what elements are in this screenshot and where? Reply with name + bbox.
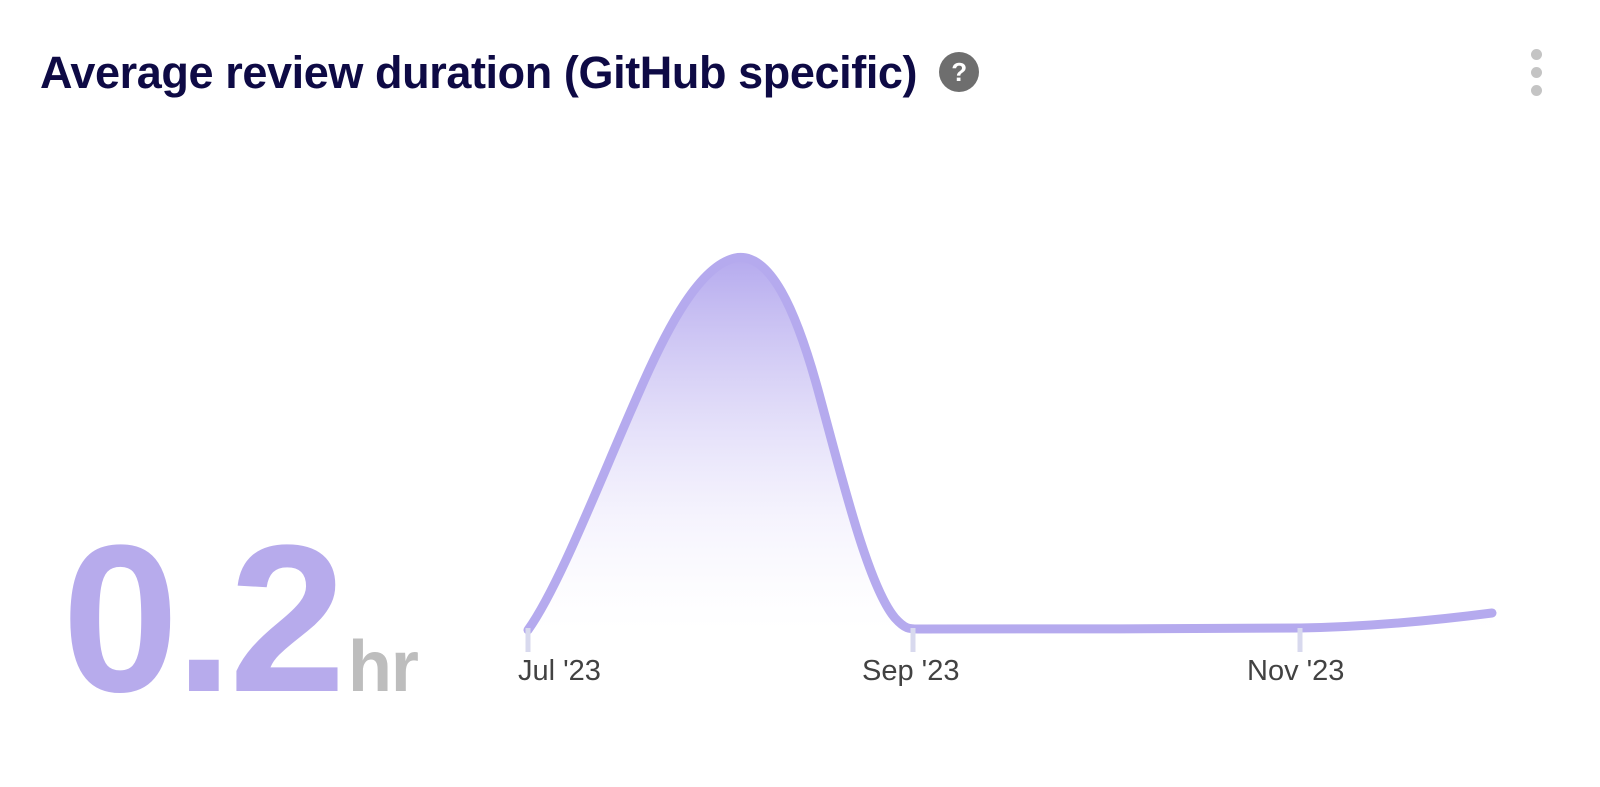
kebab-dot-2 — [1531, 67, 1542, 78]
title-group: Average review duration (GitHub specific… — [40, 50, 979, 95]
kebab-dot-1 — [1531, 49, 1542, 60]
metric-unit: hr — [348, 631, 418, 703]
x-axis-tick-label-jul: Jul '23 — [518, 657, 601, 686]
area-fill — [528, 257, 1492, 630]
page-title: Average review duration (GitHub specific… — [40, 50, 917, 95]
metric-summary: 0.2 hr — [62, 533, 418, 705]
question-mark-circle-icon[interactable]: ? — [939, 52, 979, 92]
kebab-dot-3 — [1531, 85, 1542, 96]
x-axis-tick-label-sep: Sep '23 — [862, 657, 959, 686]
metric-card: Average review duration (GitHub specific… — [0, 0, 1600, 787]
kebab-menu-icon[interactable] — [1518, 44, 1554, 100]
metric-value: 0.2 — [62, 533, 342, 705]
card-header: Average review duration (GitHub specific… — [0, 30, 1600, 114]
area-line — [528, 257, 1492, 630]
x-axis-tick-label-nov: Nov '23 — [1247, 657, 1344, 686]
